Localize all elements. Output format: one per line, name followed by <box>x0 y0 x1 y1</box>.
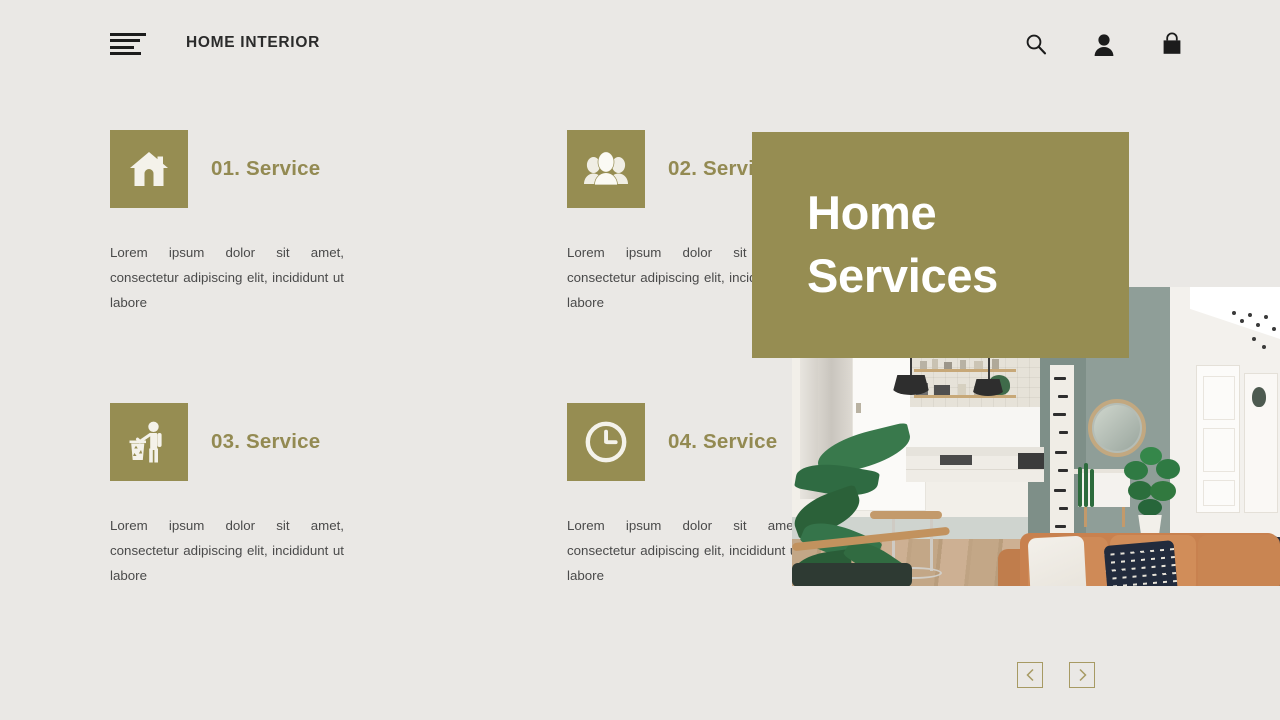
photo-wall-hook <box>1252 387 1266 407</box>
photo-right-door-1 <box>1196 365 1240 513</box>
photo-door-knob <box>856 403 861 413</box>
hero-heading: Home Services <box>807 181 998 307</box>
hero-heading-line-2: Services <box>807 244 998 307</box>
house-icon <box>110 130 188 208</box>
site-header: HOME INTERIOR <box>0 0 1280 88</box>
hamburger-line-2 <box>110 39 140 42</box>
hamburger-line-3 <box>110 46 134 49</box>
slider-navigation <box>1017 662 1095 688</box>
photo-shelf-object <box>992 359 999 369</box>
photo-shelf-object <box>934 385 950 395</box>
photo-foreground-object <box>792 563 912 586</box>
photo-console-leg <box>1084 507 1087 527</box>
service-title: 04. Service <box>668 430 777 454</box>
user-icon[interactable] <box>1091 30 1117 58</box>
hamburger-line-1 <box>110 33 146 36</box>
hamburger-icon[interactable] <box>110 33 146 55</box>
service-description: Lorem ipsum dolor sit amet, consectetur … <box>110 240 344 315</box>
hamburger-line-4 <box>110 52 141 55</box>
service-description: Lorem ipsum dolor sit amet, consectetur … <box>567 513 801 588</box>
photo-shelf-object <box>932 359 938 369</box>
photo-appliance <box>940 455 972 465</box>
hero-title-panel: Home Services <box>752 132 1129 358</box>
service-card-03[interactable]: 03. Service Lorem ipsum dolor sit amet, … <box>110 403 344 588</box>
slider-prev-button[interactable] <box>1017 662 1043 688</box>
service-card-header: 04. Service <box>567 403 801 481</box>
service-title: 03. Service <box>211 430 320 454</box>
photo-shelf-object <box>960 360 966 369</box>
photo-birch-wallpaper <box>1050 365 1074 541</box>
clock-icon <box>567 403 645 481</box>
photo-shelf-object <box>958 384 966 395</box>
service-card-01[interactable]: 01. Service Lorem ipsum dolor sit amet, … <box>110 130 344 315</box>
photo-shelf-lower <box>914 395 1016 398</box>
photo-shelf-object <box>974 361 983 369</box>
service-title: 01. Service <box>211 157 320 181</box>
photo-striped-navy-pillow <box>1104 540 1179 586</box>
hero-heading-line-1: Home <box>807 181 998 244</box>
header-icon-group <box>1023 30 1185 58</box>
slider-next-button[interactable] <box>1069 662 1095 688</box>
photo-sofa-cushion <box>1198 535 1280 586</box>
photo-string-lights <box>1232 307 1280 357</box>
recycle-bin-person-icon <box>110 403 188 481</box>
bag-icon[interactable] <box>1159 30 1185 58</box>
service-card-04[interactable]: 04. Service Lorem ipsum dolor sit amet, … <box>567 403 801 588</box>
photo-shelf-upper <box>914 369 1016 372</box>
service-description: Lorem ipsum dolor sit amet, consectetur … <box>110 513 344 588</box>
services-grid: 01. Service Lorem ipsum dolor sit amet, … <box>110 130 690 588</box>
photo-shelf-object <box>944 362 952 369</box>
users-group-icon <box>567 130 645 208</box>
photo-snake-plant <box>1076 463 1098 507</box>
brand-title: HOME INTERIOR <box>186 34 320 52</box>
photo-shelf-object <box>920 361 927 369</box>
photo-fiddle-leaf-fig <box>1122 445 1180 521</box>
service-card-header: 01. Service <box>110 130 344 208</box>
photo-pendant-lamp <box>972 379 1004 396</box>
photo-throw-blanket <box>1028 536 1089 586</box>
services-row-2: 03. Service Lorem ipsum dolor sit amet, … <box>110 403 690 588</box>
photo-microwave <box>1018 453 1044 469</box>
chevron-right-icon <box>1077 668 1088 682</box>
photo-pendant-lamp <box>892 375 930 395</box>
chevron-left-icon <box>1025 668 1036 682</box>
search-icon[interactable] <box>1023 30 1049 58</box>
services-row-1: 01. Service Lorem ipsum dolor sit amet, … <box>110 130 690 315</box>
service-card-header: 03. Service <box>110 403 344 481</box>
